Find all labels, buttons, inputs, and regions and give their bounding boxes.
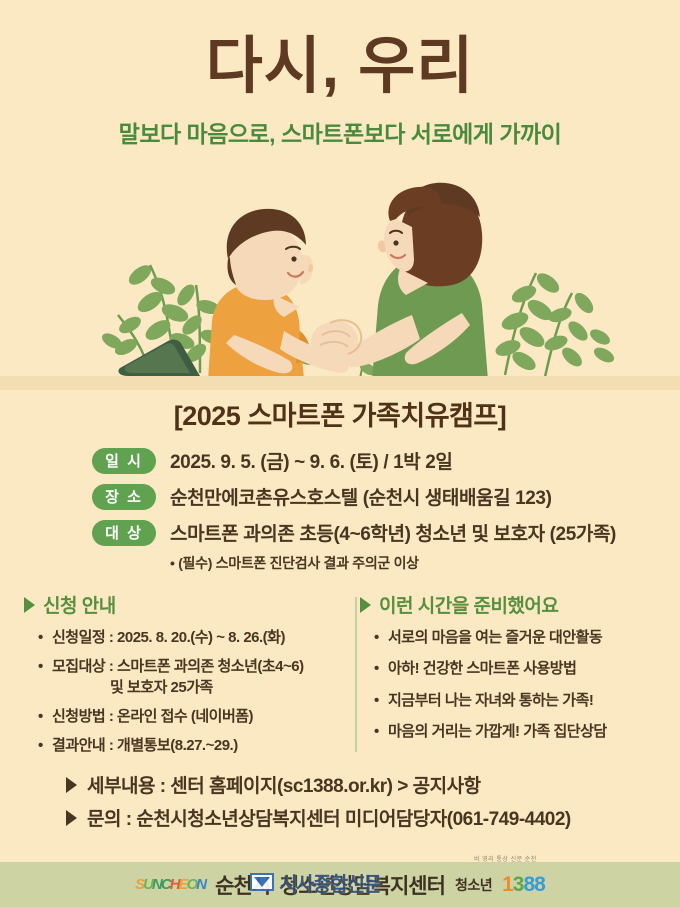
info-row-place: 장 소 순천만에코촌유스호스텔 (순천시 생태배움길 123) (92, 483, 680, 510)
list-item: 신청일정 : 2025. 8. 20.(수) ~ 8. 26.(화) (38, 628, 320, 648)
program-bullet-text: 지금부터 나는 자녀와 통하는 가족! (388, 692, 593, 709)
info-badge-target: 대 상 (92, 520, 156, 546)
apply-section: 신청 안내 신청일정 : 2025. 8. 20.(수) ~ 8. 26.(화)… (24, 591, 334, 765)
info-note: • (필수) 스마트폰 진단검사 결과 주의군 이상 (92, 553, 680, 573)
table-surface (0, 376, 680, 390)
apply-section-heading-label: 신청 안내 (43, 591, 116, 618)
footer-inner: SUNCHEON 순천시 청소년상담복지센터 청소년 1388 시사종합신문 비… (135, 870, 545, 900)
program-section-heading: 이런 시간을 준비했어요 (360, 591, 656, 618)
info-badge-place: 장 소 (92, 484, 156, 510)
footer-youth-label: 청소년 (455, 875, 492, 895)
column-divider (355, 597, 357, 752)
contact-line-website[interactable]: 세부내용 : 센터 홈페이지(sc1388.or.kr) > 공지사항 (66, 771, 680, 798)
poster-subtitle: 말보다 마음으로, 스마트폰보다 서로에게 가까이 (0, 115, 680, 149)
list-item: 서로의 마음을 여는 즐거운 대안활동 (374, 628, 656, 648)
footer-bar: SUNCHEON 순천시 청소년상담복지센터 청소년 1388 시사종합신문 비… (0, 862, 680, 907)
program-section: 이런 시간을 준비했어요 서로의 마음을 여는 즐거운 대안활동 아하! 건강한… (334, 591, 656, 765)
info-value-target: 스마트폰 과의존 초등(4~6학년) 청소년 및 보호자 (25가족) (170, 519, 616, 546)
hero-illustration (0, 155, 680, 390)
poster-root: 다시, 우리 말보다 마음으로, 스마트폰보다 서로에게 가까이 (0, 0, 680, 907)
logo-1388-digit: 1 (502, 873, 513, 896)
poster-header: 다시, 우리 말보다 마음으로, 스마트폰보다 서로에게 가까이 (0, 0, 680, 149)
logo-1388-digit: 3 (513, 873, 524, 896)
program-bullet-text: 아하! 건강한 스마트폰 사용방법 (388, 660, 576, 677)
contact-phone-text: 문의 : 순천시청소년상담복지센터 미디어담당자(061-749-4402) (87, 804, 571, 831)
triangle-icon (66, 777, 77, 793)
logo-letter: N (196, 877, 206, 892)
detail-columns: 신청 안내 신청일정 : 2025. 8. 20.(수) ~ 8. 26.(화)… (0, 591, 680, 765)
triangle-icon (66, 810, 77, 826)
book-icon (247, 869, 277, 895)
info-badge-date: 일 시 (92, 448, 156, 474)
triangle-icon (360, 597, 371, 613)
contact-website-text: 세부내용 : 센터 홈페이지(sc1388.or.kr) > 공지사항 (87, 771, 481, 798)
program-section-heading-label: 이런 시간을 준비했어요 (379, 591, 558, 618)
tiny-watermark-text: 비 영리 통상 신문 순천 (474, 854, 537, 863)
info-block: 일 시 2025. 9. 5. (금) ~ 9. 6. (토) / 1박 2일 … (0, 447, 680, 573)
apply-bullet-list: 신청일정 : 2025. 8. 20.(수) ~ 8. 26.(화) 모집대상 … (24, 628, 320, 756)
program-bullet-list: 서로의 마음을 여는 즐거운 대안활동 아하! 건강한 스마트폰 사용방법 지금… (360, 628, 656, 742)
apply-bullet-text: 모집대상 : 스마트폰 과의존 청소년(초4~6) (52, 658, 304, 675)
contact-block: 세부내용 : 센터 홈페이지(sc1388.or.kr) > 공지사항 문의 :… (0, 771, 680, 831)
triangle-icon (24, 597, 35, 613)
list-item: 신청방법 : 온라인 접수 (네이버폼) (38, 707, 320, 727)
logo-1388: 1388 (502, 874, 545, 895)
list-item: 모집대상 : 스마트폰 과의존 청소년(초4~6) 및 보호자 25가족 (38, 657, 320, 698)
logo-1388-digit: 8 (523, 873, 534, 896)
info-value-date: 2025. 9. 5. (금) ~ 9. 6. (토) / 1박 2일 (170, 447, 452, 474)
list-item: 마음의 거리는 가깝게! 가족 집단상담 (374, 722, 656, 742)
list-item: 결과안내 : 개별통보(8.27.~29.) (38, 736, 320, 756)
suncheon-city-logo: SUNCHEON (135, 877, 205, 892)
list-item: 지금부터 나는 자녀와 통하는 가족! (374, 691, 656, 711)
apply-bullet-text-continued: 및 보호자 25가족 (52, 678, 320, 698)
logo-1388-digit: 8 (534, 873, 545, 896)
info-row-target: 대 상 스마트폰 과의존 초등(4~6학년) 청소년 및 보호자 (25가족) (92, 519, 680, 546)
apply-section-heading: 신청 안내 (24, 591, 320, 618)
program-bullet-text: 서로의 마음을 여는 즐거운 대안활동 (388, 629, 602, 646)
camp-title: [2025 스마트폰 가족치유캠프] (0, 394, 680, 433)
info-row-date: 일 시 2025. 9. 5. (금) ~ 9. 6. (토) / 1박 2일 (92, 447, 680, 474)
apply-bullet-text: 신청방법 : 온라인 접수 (네이버폼) (52, 708, 253, 725)
apply-bullet-text: 결과안내 : 개별통보(8.27.~29.) (52, 737, 238, 754)
news-watermark-text: 시사종합신문 (279, 868, 380, 897)
info-value-place: 순천만에코촌유스호스텔 (순천시 생태배움길 123) (170, 483, 552, 510)
poster-title: 다시, 우리 (0, 34, 680, 99)
apply-bullet-text: 신청일정 : 2025. 8. 20.(수) ~ 8. 26.(화) (52, 629, 285, 646)
contact-line-phone[interactable]: 문의 : 순천시청소년상담복지센터 미디어담당자(061-749-4402) (66, 804, 680, 831)
list-item: 아하! 건강한 스마트폰 사용방법 (374, 659, 656, 679)
news-watermark: 시사종합신문 (247, 868, 380, 897)
program-bullet-text: 마음의 거리는 가깝게! 가족 집단상담 (388, 723, 607, 740)
illustration-svg (0, 155, 680, 390)
